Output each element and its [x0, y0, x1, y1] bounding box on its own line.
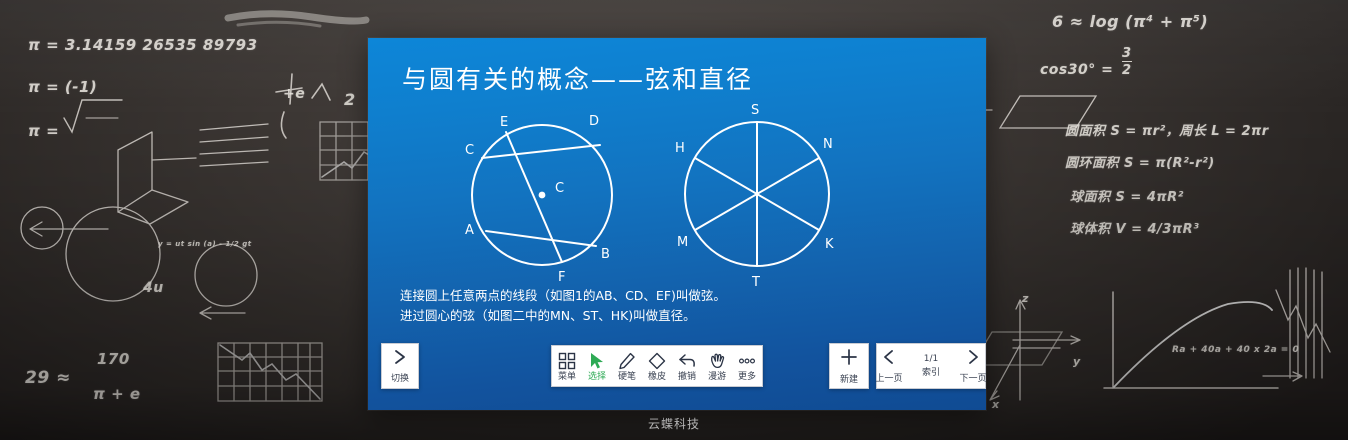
- tool-label: 选择: [588, 372, 606, 382]
- tool-pen[interactable]: 硬笔: [612, 346, 642, 386]
- page-index-value: 1/1: [924, 354, 938, 364]
- hand-icon: [708, 350, 726, 370]
- new-page-button-label: 新建: [840, 372, 858, 385]
- next-page-label: 下一页: [959, 371, 986, 384]
- fig2-label-N: N: [823, 137, 833, 152]
- next-page-button[interactable]: 下一页: [952, 344, 994, 388]
- fig1-label-D: D: [589, 114, 599, 129]
- fig1-label-E: E: [500, 115, 508, 130]
- tool-cursor[interactable]: 选择: [582, 346, 612, 386]
- page-index-button[interactable]: 1/1 索引: [910, 344, 952, 388]
- fig1-label-F: F: [558, 270, 565, 285]
- tool-grid-menu[interactable]: 菜单: [552, 346, 582, 386]
- new-page-button[interactable]: 新建: [829, 343, 869, 389]
- fig2-label-S: S: [751, 103, 759, 118]
- figure-1-chords: E D C A B F C: [460, 100, 628, 288]
- slide-caption: 连接圆上任意两点的线段（如图1的AB、CD、EF)叫做弦。 进过圆心的弦（如图二…: [400, 286, 726, 326]
- plus-icon: [840, 348, 858, 371]
- tool-eraser[interactable]: 橡皮: [642, 346, 672, 386]
- undo-icon: [678, 350, 697, 370]
- tool-label: 橡皮: [648, 372, 666, 382]
- tool-more-dots[interactable]: 更多: [732, 346, 762, 386]
- tool-label: 菜单: [558, 372, 576, 382]
- caption-line-1: 连接圆上任意两点的线段（如图1的AB、CD、EF)叫做弦。: [400, 286, 726, 306]
- fig1-label-B: B: [601, 247, 610, 262]
- page-navigation: 上一页 1/1 索引 下一页: [876, 343, 986, 389]
- figure-2-diameters: S N K T M H: [673, 96, 845, 288]
- page-index-label: 索引: [922, 365, 940, 378]
- tool-label: 漫游: [708, 372, 726, 382]
- caption-line-2: 进过圆心的弦（如图二中的MN、ST、HK)叫做直径。: [400, 306, 726, 326]
- fig1-label-C: C: [465, 143, 474, 158]
- switch-button[interactable]: 切换: [381, 343, 419, 389]
- switch-button-label: 切换: [391, 371, 409, 384]
- fig1-label-A: A: [465, 223, 474, 238]
- screenshot-root: π = 3.14159 26535 89793π = (-1)π = 4uy =…: [0, 0, 1348, 440]
- more-dots-icon: [737, 350, 757, 370]
- chevron-right-icon: [966, 349, 980, 370]
- chevron-left-icon: [882, 349, 896, 370]
- cursor-icon: [588, 350, 606, 370]
- slide-title: 与圆有关的概念——弦和直径: [402, 60, 753, 96]
- drawing-toolbar: 菜单选择硬笔橡皮撤销漫游更多: [551, 345, 763, 387]
- fig2-label-T: T: [751, 275, 760, 290]
- fig2-label-K: K: [825, 237, 834, 252]
- chevron-right-icon: [393, 349, 408, 370]
- fig1-center-label: C: [555, 181, 564, 196]
- watermark: 云蝶科技: [0, 415, 1348, 432]
- prev-page-label: 上一页: [875, 371, 902, 384]
- tool-label: 撤销: [678, 372, 696, 382]
- tool-undo[interactable]: 撤销: [672, 346, 702, 386]
- prev-page-button[interactable]: 上一页: [868, 344, 910, 388]
- tool-label: 硬笔: [618, 372, 636, 382]
- tool-hand[interactable]: 漫游: [702, 346, 732, 386]
- eraser-icon: [648, 350, 666, 370]
- grid-menu-icon: [558, 350, 576, 370]
- fig2-label-M: M: [677, 235, 688, 250]
- pen-icon: [618, 350, 636, 370]
- tool-label: 更多: [738, 372, 756, 382]
- fig2-label-H: H: [675, 141, 685, 156]
